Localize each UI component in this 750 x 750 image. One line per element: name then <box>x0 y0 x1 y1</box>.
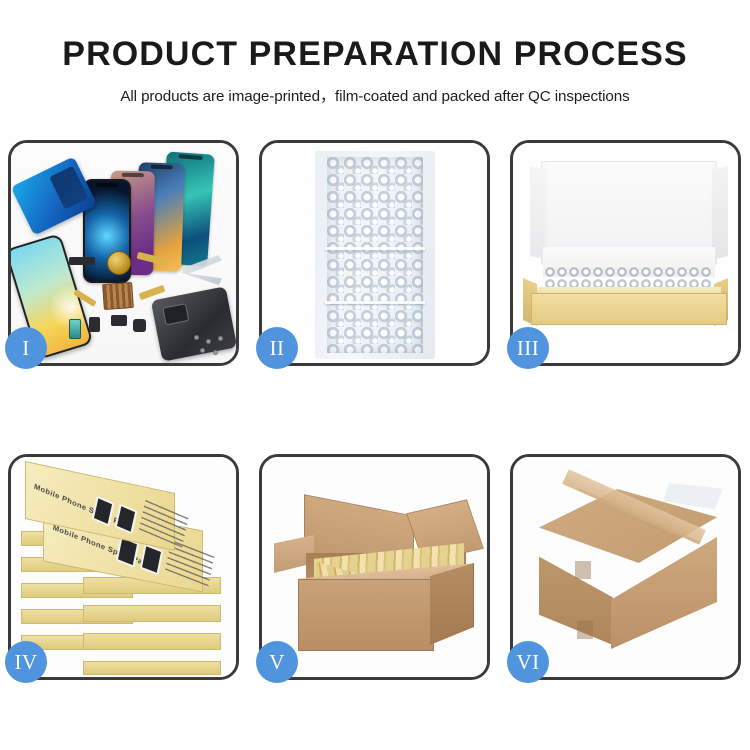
step-1-image <box>11 143 236 363</box>
small-part-icon <box>111 315 127 326</box>
process-step-panel-2: II <box>259 140 490 366</box>
screws-icon <box>194 335 228 357</box>
small-part-icon <box>69 257 95 265</box>
battery-icon <box>69 319 81 339</box>
box-spec-lines <box>139 498 189 548</box>
carton-side-face <box>430 563 474 645</box>
step-3-image <box>513 143 738 363</box>
carton-tab <box>577 621 593 639</box>
bubble-texture <box>327 157 423 353</box>
open-carton-scene <box>262 457 487 677</box>
step-badge-5: V <box>256 641 298 683</box>
retail-box-edge <box>83 633 221 650</box>
screen-thumb-icon <box>115 504 138 535</box>
screen-thumb-icon <box>140 544 164 576</box>
step-badge-2: II <box>256 327 298 369</box>
box-tray-front <box>531 293 727 325</box>
stacked-boxes-scene: Mobile Phone Spare Parts Mobile Phone Sp… <box>11 457 236 677</box>
step-badge-4: IV <box>5 641 47 683</box>
product-preparation-infographic: PRODUCT PREPARATION PROCESS All products… <box>0 0 750 750</box>
small-part-icon <box>133 319 146 332</box>
process-step-panel-5: V <box>259 454 490 680</box>
pouch-seam <box>325 247 425 250</box>
small-part-icon <box>89 317 100 332</box>
process-step-panel-1: I <box>8 140 239 366</box>
step-2-image <box>262 143 487 363</box>
chip-grid-icon <box>102 282 134 310</box>
retail-box-edge <box>83 661 221 675</box>
process-step-panel-6: VI <box>510 454 741 680</box>
carton-tab <box>575 561 591 579</box>
step-4-image: Mobile Phone Spare Parts Mobile Phone Sp… <box>11 457 236 677</box>
retail-box-edge <box>83 605 221 622</box>
process-step-panel-3: III <box>510 140 741 366</box>
page-title: PRODUCT PREPARATION PROCESS <box>0 36 750 73</box>
pouch-seam <box>325 301 425 304</box>
sealed-carton-scene <box>513 457 738 677</box>
step-badge-3: III <box>507 327 549 369</box>
bubble-wrap-pouch-icon <box>315 151 435 359</box>
step-badge-6: VI <box>507 641 549 683</box>
page-subtitle: All products are image-printed，film-coat… <box>0 84 750 106</box>
step-6-image <box>513 457 738 677</box>
carton-front-face <box>298 579 434 651</box>
carton-left-face <box>539 537 613 645</box>
process-step-panel-4: Mobile Phone Spare Parts Mobile Phone Sp… <box>8 454 239 680</box>
bubble-wrap-scene <box>262 143 487 363</box>
speaker-module-icon <box>107 251 131 275</box>
step-badge-1: I <box>5 327 47 369</box>
open-flat-box-scene <box>513 143 738 363</box>
header: PRODUCT PREPARATION PROCESS All products… <box>0 36 750 106</box>
step-5-image <box>262 457 487 677</box>
process-step-grid: I II <box>8 140 742 680</box>
phone-parts-scene <box>11 143 236 363</box>
